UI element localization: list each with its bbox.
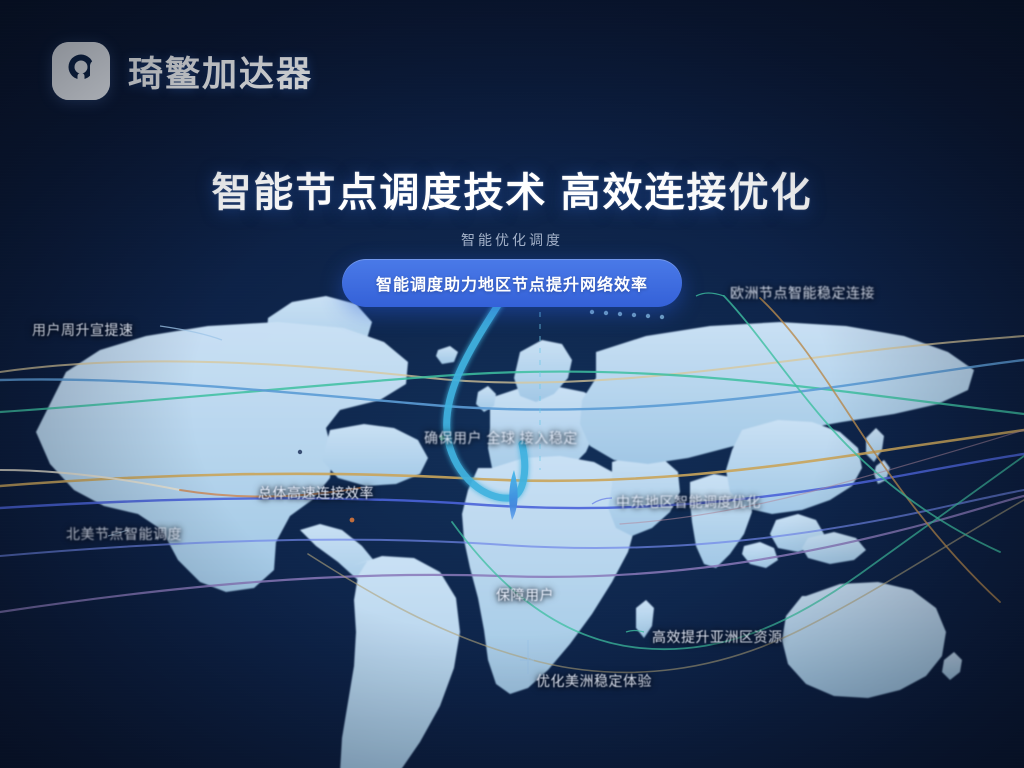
brand-name: 琦鳘加达器: [128, 46, 313, 97]
callout-pill[interactable]: 智能调度助力地区节点提升网络效率: [342, 259, 682, 307]
annotation-right-mid: 中东地区智能调度优化: [616, 492, 761, 512]
annotation-bottom-mid: 优化美洲稳定体验: [536, 671, 652, 691]
page-subtitle: 智能优化调度: [0, 230, 1024, 250]
page-title: 智能节点调度技术 高效连接优化: [0, 160, 1024, 218]
slide-canvas: 琦鳘加达器 智能节点调度技术 高效连接优化 智能优化调度 智能调度助力地区节点提…: [0, 0, 1024, 768]
annotation-bottom-center: 保障用户: [496, 585, 554, 605]
annotation-left-mid: 总体高速连接效率: [258, 483, 374, 503]
annotation-left-top: 用户周升宣提速: [32, 320, 134, 340]
brand-lockup[interactable]: 琦鳘加达器: [52, 42, 313, 100]
headline-block: 智能节点调度技术 高效连接优化 智能优化调度: [0, 160, 1024, 250]
annotation-bottom-right: 高效提升亚洲区资源: [652, 627, 783, 647]
brand-logo-icon: [52, 42, 110, 100]
annotation-center-mid: 确保用户 全球 接入稳定: [424, 428, 578, 448]
world-map-visual: [0, 0, 1024, 768]
annotation-left-low: 北美节点智能调度: [66, 524, 182, 544]
annotation-right-top: 欧洲节点智能稳定连接: [730, 283, 875, 303]
